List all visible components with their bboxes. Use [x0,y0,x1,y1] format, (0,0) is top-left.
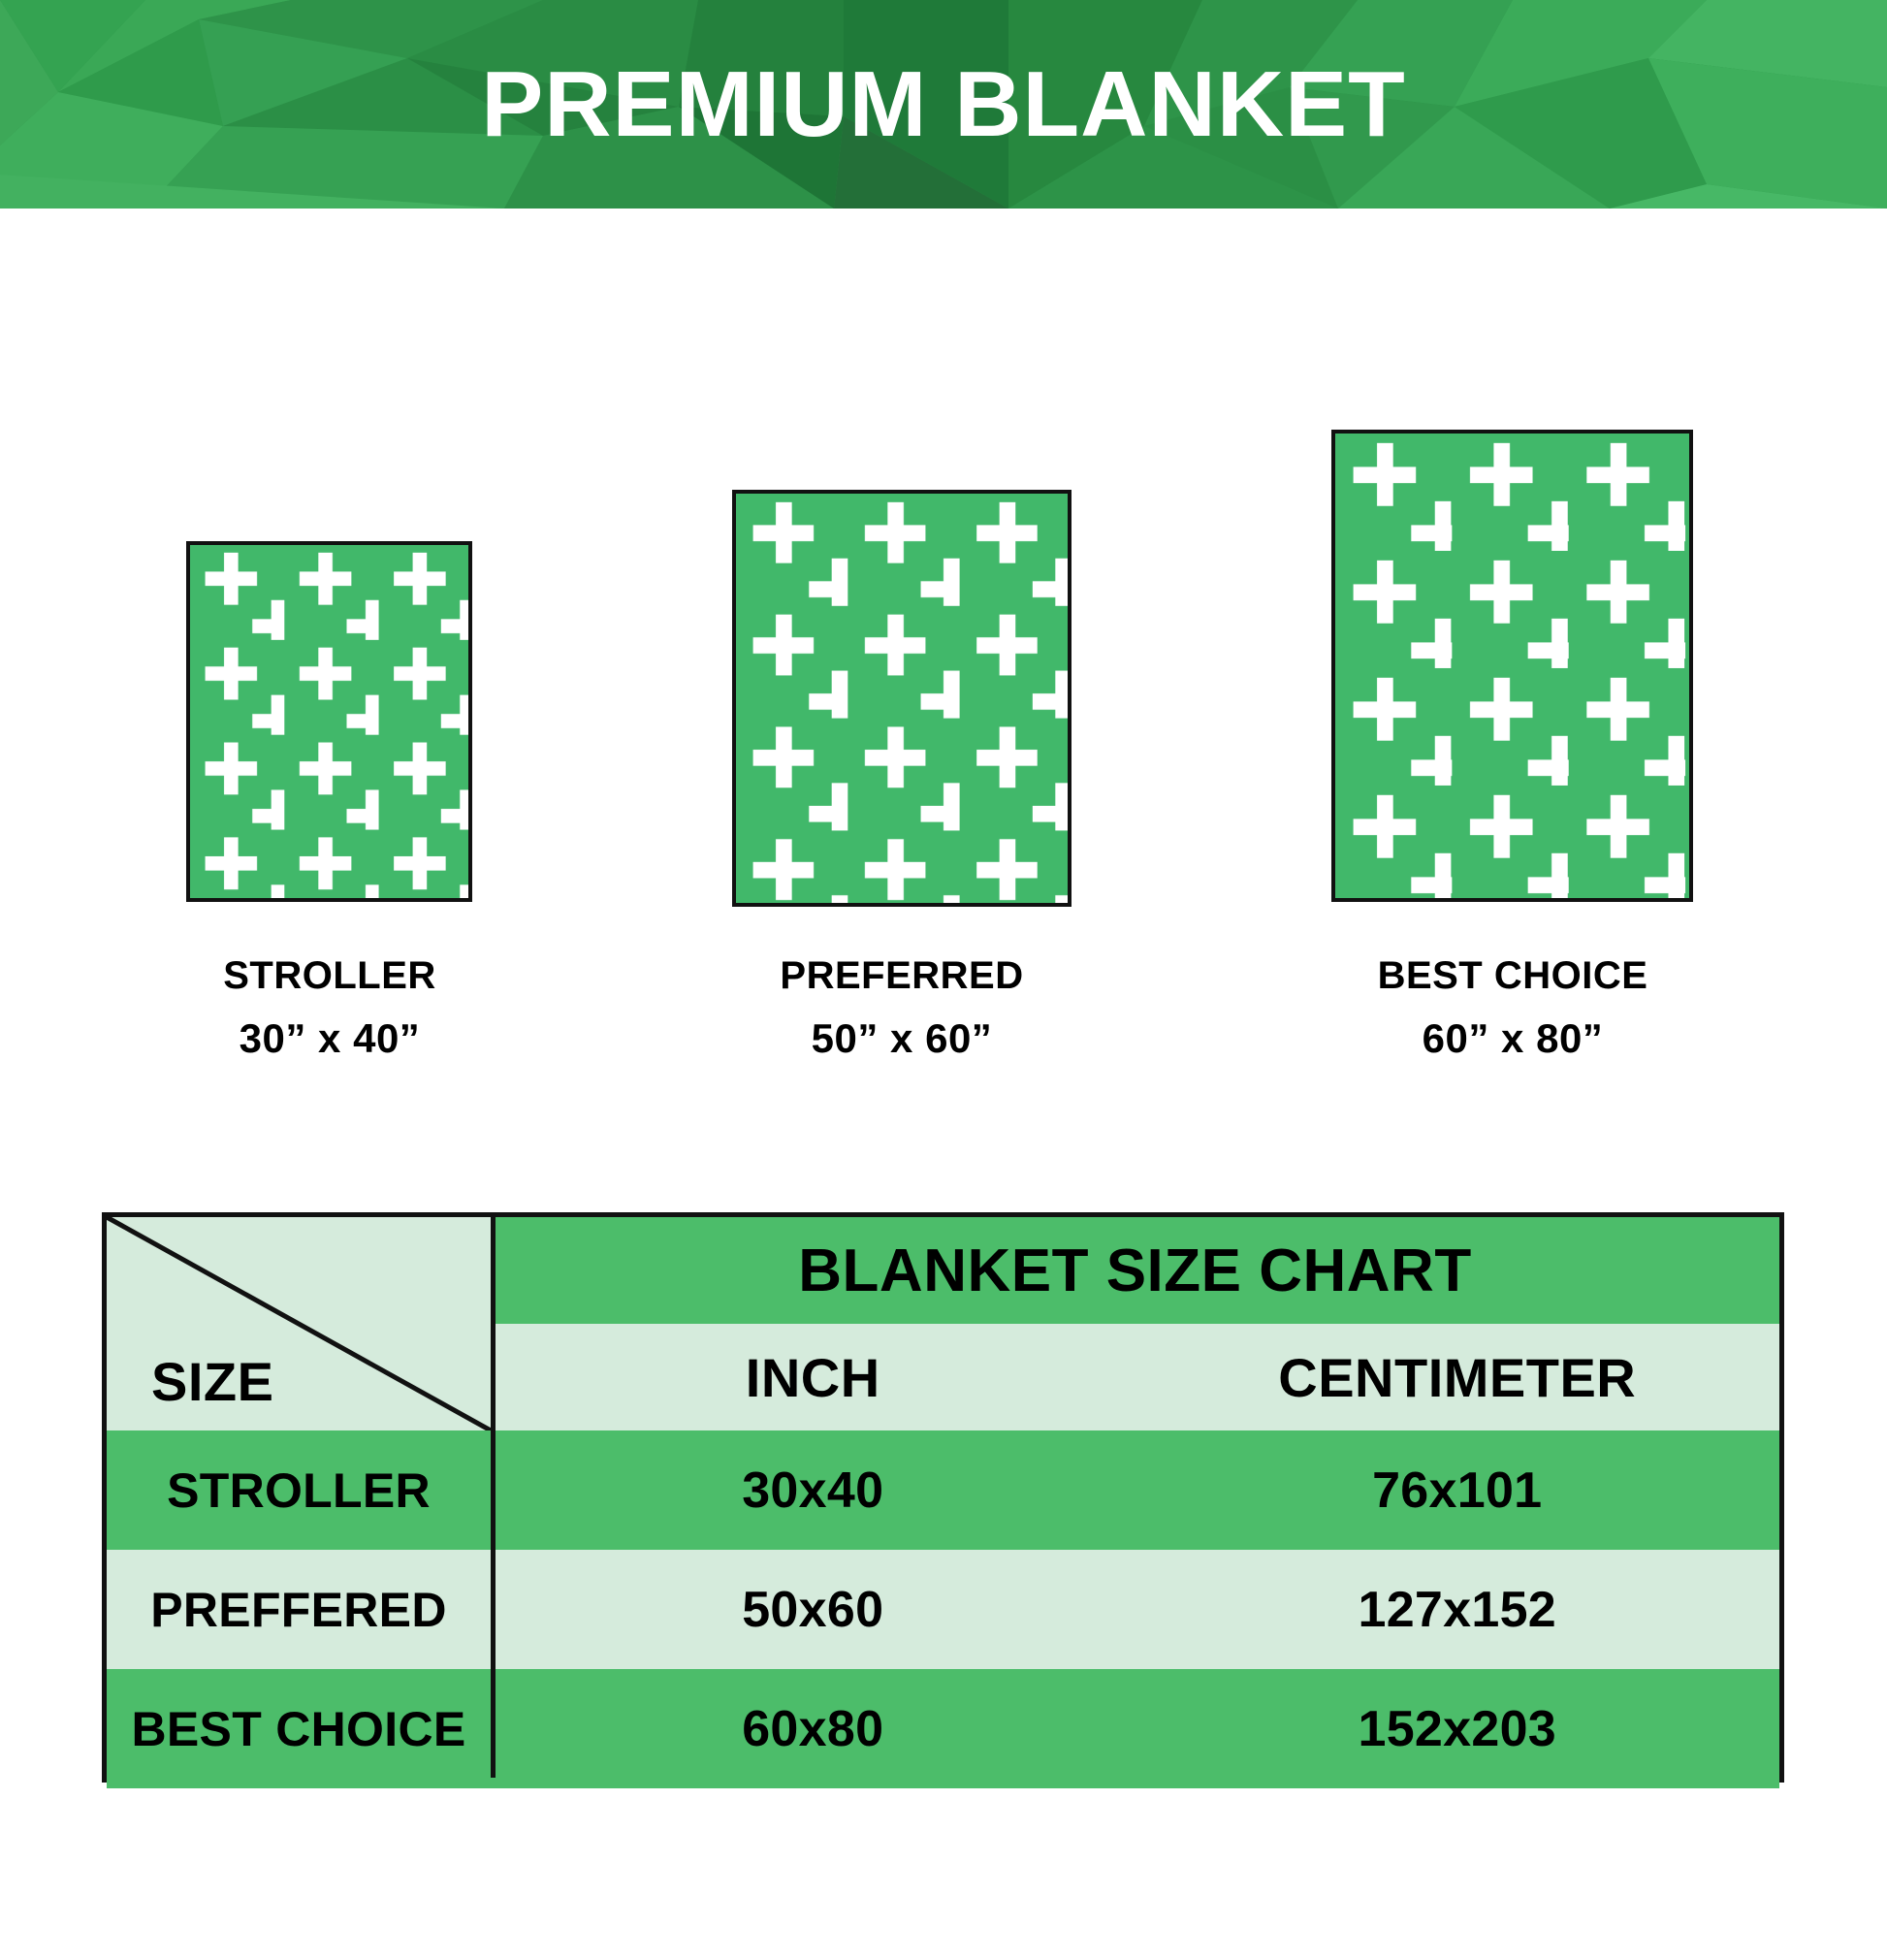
table-cell-inch-stroller: 30x40 [491,1462,1135,1520]
cross-pattern-icon [1335,434,1689,898]
table-row-values-stroller: 30x40 76x101 [491,1430,1779,1550]
header-banner: PREMIUM BLANKET [0,0,1887,209]
table-row-label-preffered: PREFFERED [107,1550,491,1669]
swatch-caption-preferred: PREFERRED 50” x 60” [659,955,1144,1060]
table-value-inch-stroller: 30x40 [742,1462,883,1520]
table-row-label-best-choice: BEST CHOICE [107,1669,491,1788]
blanket-swatch-stroller [186,541,472,902]
table-row-values-preffered: 50x60 127x152 [491,1550,1779,1669]
table-cell-centimeter-preffered: 127x152 [1135,1581,1780,1639]
table-cell-inch-best-choice: 60x80 [491,1700,1135,1758]
table-cell-centimeter-stroller: 76x101 [1135,1462,1780,1520]
blanket-swatch-preferred [732,490,1071,907]
table-cell-inch-preffered: 50x60 [491,1581,1135,1639]
swatch-dimensions-preferred: 50” x 60” [659,1017,1144,1060]
blanket-swatch-best-choice [1331,430,1693,902]
table-cell-centimeter-best-choice: 152x203 [1135,1700,1780,1758]
swatch-dimensions-stroller: 30” x 40” [136,1017,524,1060]
table-row-size-best-choice: BEST CHOICE [132,1701,466,1757]
blanket-size-chart-table: SIZE BLANKET SIZE CHART INCH CENTIMETER … [102,1212,1784,1783]
swatch-dimensions-best-choice: 60” x 80” [1280,1017,1745,1060]
table-row-size-stroller: STROLLER [167,1462,431,1519]
table-value-inch-preffered: 50x60 [742,1581,883,1639]
table-row-size-preffered: PREFFERED [150,1582,447,1638]
table-row-label-stroller: STROLLER [107,1430,491,1550]
cross-pattern-icon [190,545,468,898]
swatch-name-best-choice: BEST CHOICE [1280,955,1745,996]
table-title-text: BLANKET SIZE CHART [798,1237,1471,1305]
page-title: PREMIUM BLANKET [0,0,1887,209]
swatch-caption-best-choice: BEST CHOICE 60” x 80” [1280,955,1745,1060]
table-header-inch-label: INCH [746,1346,880,1409]
table-corner-size-cell: SIZE [107,1217,491,1430]
table-row-values-best-choice: 60x80 152x203 [491,1669,1779,1788]
table-corner-label: SIZE [151,1350,273,1413]
table-header-centimeter-label: CENTIMETER [1278,1346,1636,1409]
table-value-centimeter-stroller: 76x101 [1372,1462,1542,1520]
table-value-inch-best-choice: 60x80 [742,1700,883,1758]
table-header-centimeter: CENTIMETER [1135,1324,1780,1430]
table-title-cell: BLANKET SIZE CHART [491,1217,1779,1324]
swatch-caption-stroller: STROLLER 30” x 40” [136,955,524,1060]
table-unit-header-row: INCH CENTIMETER [491,1324,1779,1430]
swatch-name-preferred: PREFERRED [659,955,1144,996]
table-value-centimeter-best-choice: 152x203 [1358,1700,1556,1758]
table-value-centimeter-preffered: 127x152 [1358,1581,1556,1639]
cross-pattern-icon [736,494,1068,903]
table-header-inch: INCH [491,1324,1135,1430]
swatch-name-stroller: STROLLER [136,955,524,996]
